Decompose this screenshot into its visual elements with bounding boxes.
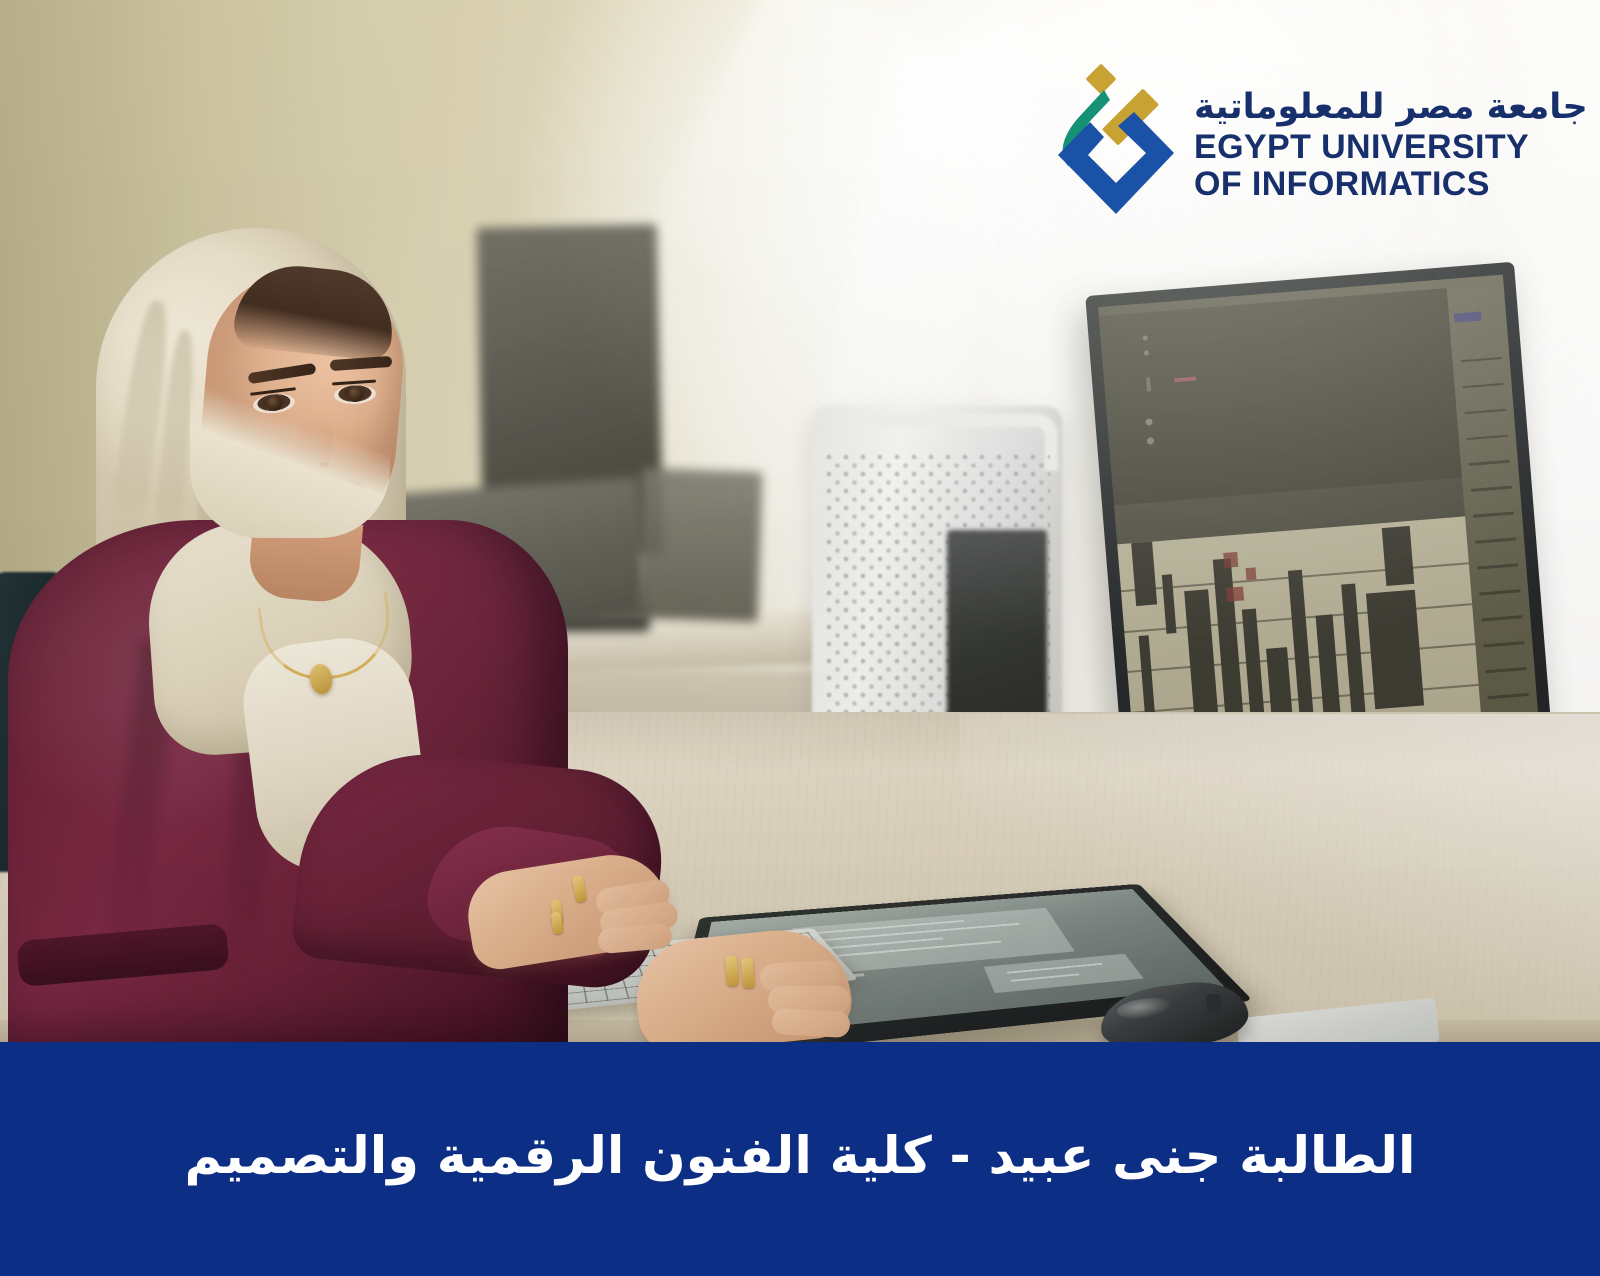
mouse-side-button[interactable] <box>1206 993 1222 1015</box>
university-logo: جامعة مصر للمعلوماتية EGYPT UNIVERSITY O… <box>1046 62 1588 230</box>
app-canvas <box>1099 288 1462 505</box>
panel-title-bar <box>1453 311 1481 322</box>
logo-english-line-1: EGYPT UNIVERSITY <box>1194 129 1588 166</box>
logo-arabic-name: جامعة مصر للمعلوماتية <box>1194 90 1588 125</box>
eui-diamond-logo-icon <box>1046 62 1178 230</box>
caption-text: الطالبة جنى عبيد - كلية الفنون الرقمية و… <box>185 1127 1416 1192</box>
logo-wordmark: جامعة مصر للمعلوماتية EGYPT UNIVERSITY O… <box>1194 90 1588 202</box>
promo-card: جامعة مصر للمعلوماتية EGYPT UNIVERSITY O… <box>0 0 1600 1276</box>
logo-english-line-2: OF INFORMATICS <box>1194 166 1588 203</box>
hijab-front-edge <box>190 238 390 538</box>
mouse-highlight <box>1116 995 1174 1022</box>
caption-banner: الطالبة جنى عبيد - كلية الفنون الرقمية و… <box>0 1042 1600 1276</box>
gold-ring <box>741 958 755 989</box>
student-figure <box>0 0 760 1042</box>
gold-ring <box>725 956 739 987</box>
photo-area: جامعة مصر للمعلوماتية EGYPT UNIVERSITY O… <box>0 0 1600 1042</box>
